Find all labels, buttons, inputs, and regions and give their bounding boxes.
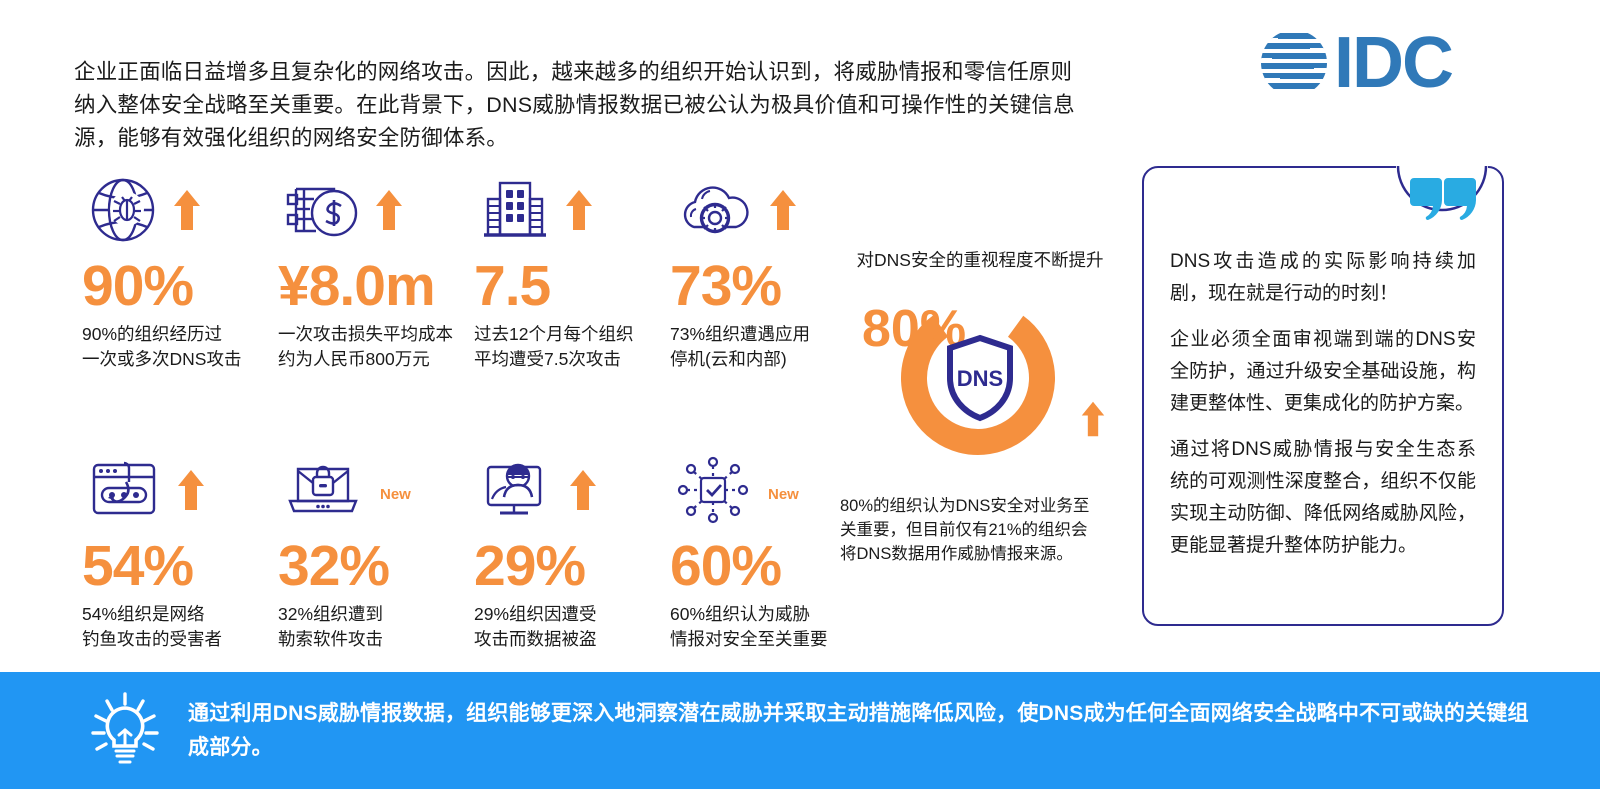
stat-caption: 73%组织遭遇应用 停机(云和内部)	[658, 322, 854, 372]
intro-paragraph: 企业正面临日益增多且复杂化的网络攻击。因此，越来越多的组织开始认识到，将威胁情报…	[74, 56, 1084, 155]
quote-mark-icon	[1410, 176, 1480, 226]
infographic-page: IDC 企业正面临日益增多且复杂化的网络攻击。因此，越来越多的组织开始认识到，将…	[0, 0, 1600, 789]
stat-card-54: 54% 54%组织是网络 钓鱼攻击的受害者	[70, 448, 266, 652]
quote-card: DNS攻击造成的实际影响持续加剧，现在就是行动的时刻！ 企业必须全面审视端到端的…	[1142, 166, 1504, 626]
threat-intel-network-icon	[674, 455, 752, 525]
arrow-up-icon	[568, 468, 598, 512]
arrow-up-icon	[1080, 400, 1106, 438]
stat-value: 29%	[462, 536, 658, 596]
phishing-browser-icon	[86, 455, 164, 525]
stat-caption: 一次攻击损失平均成本 约为人民币800万元	[266, 322, 462, 372]
stat-value: 7.5	[462, 256, 658, 316]
svg-text:DNS: DNS	[957, 366, 1003, 391]
stat-card-32: New 32% 32%组织遭到 勒索软件攻击	[266, 448, 462, 652]
arrow-up-icon	[172, 188, 202, 232]
arrow-up-icon	[176, 468, 206, 512]
stat-caption: 54%组织是网络 钓鱼攻击的受害者	[70, 602, 266, 652]
lightbulb-icon	[90, 690, 160, 772]
stat-caption: 32%组织遭到 勒索软件攻击	[266, 602, 462, 652]
dns-shield-icon: DNS	[944, 334, 1016, 422]
stats-row-2: 54% 54%组织是网络 钓鱼攻击的受害者	[70, 448, 860, 652]
stat-value: 32%	[266, 536, 462, 596]
stat-icon-row	[658, 168, 854, 252]
donut-chart: 80% DNS	[840, 280, 1120, 480]
stats-grid: 90% 90%的组织经历过 一次或多次DNS攻击	[70, 168, 860, 652]
arrow-up-icon	[374, 188, 404, 232]
stat-card-73: 73% 73%组织遭遇应用 停机(云和内部)	[658, 168, 854, 372]
stat-card-29: 29% 29%组织因遭受 攻击而数据被盗	[462, 448, 658, 652]
quote-paragraph-2: 企业必须全面审视端到端的DNS安全防护，通过升级安全基础设施，构建更整体性、更集…	[1170, 324, 1476, 420]
arrow-up-icon	[564, 188, 594, 232]
stat-caption: 过去12个月每个组织 平均遭受7.5次攻击	[462, 322, 658, 372]
globe-bug-icon	[86, 173, 160, 247]
stat-card-60: New 60% 60%组织认为威胁 情报对安全至关重要	[658, 448, 854, 652]
idc-wordmark: IDC	[1334, 27, 1452, 99]
stat-caption: 29%组织因遭受 攻击而数据被盗	[462, 602, 658, 652]
hacker-monitor-icon	[478, 455, 556, 525]
cloud-gear-icon	[674, 175, 756, 245]
stat-icon-row	[70, 168, 266, 252]
stat-card-cost: ¥8.0m 一次攻击损失平均成本 约为人民币800万元	[266, 168, 462, 372]
stat-icon-row: New	[658, 448, 854, 532]
stat-caption: 90%的组织经历过 一次或多次DNS攻击	[70, 322, 266, 372]
stat-caption: 60%组织认为威胁 情报对安全至关重要	[658, 602, 854, 652]
stats-row-1: 90% 90%的组织经历过 一次或多次DNS攻击	[70, 168, 860, 372]
money-dollar-icon	[282, 173, 362, 247]
stat-icon-row	[462, 448, 658, 532]
quote-paragraph-1: DNS攻击造成的实际影响持续加剧，现在就是行动的时刻！	[1170, 246, 1476, 310]
laptop-ransomware-icon	[282, 455, 364, 525]
stat-icon-row	[266, 168, 462, 252]
new-badge: New	[380, 486, 411, 503]
stat-value: 60%	[658, 536, 854, 596]
stat-icon-row: New	[266, 448, 462, 532]
stat-icon-row	[462, 168, 658, 252]
banner-text: 通过利用DNS威胁情报数据，组织能够更深入地洞察潜在威胁并采取主动措施降低风险，…	[188, 697, 1548, 765]
stat-icon-row	[70, 448, 266, 532]
donut-chart-title: 对DNS安全的重视程度不断提升	[840, 248, 1120, 272]
stat-value: 54%	[70, 536, 266, 596]
new-badge: New	[768, 486, 799, 503]
building-icon	[478, 173, 552, 247]
stat-value: 90%	[70, 256, 266, 316]
bottom-banner: 通过利用DNS威胁情报数据，组织能够更深入地洞察潜在威胁并采取主动措施降低风险，…	[0, 672, 1600, 789]
donut-chart-block: 对DNS安全的重视程度不断提升 80% DNS 80%的组织认为DNS安全对业务…	[840, 248, 1120, 566]
stat-card-75: 7.5 过去12个月每个组织 平均遭受7.5次攻击	[462, 168, 658, 372]
arrow-up-icon	[768, 188, 798, 232]
idc-globe-icon	[1258, 27, 1330, 99]
stat-value: ¥8.0m	[266, 256, 462, 316]
stat-value: 73%	[658, 256, 854, 316]
donut-caption: 80%的组织认为DNS安全对业务至关重要，但目前仅有21%的组织会将DNS数据用…	[840, 494, 1090, 566]
idc-logo: IDC	[1258, 22, 1518, 104]
quote-paragraph-3: 通过将DNS威胁情报与安全生态系统的可观测性深度整合，组织不仅能实现主动防御、降…	[1170, 434, 1476, 562]
quote-body: DNS攻击造成的实际影响持续加剧，现在就是行动的时刻！ 企业必须全面审视端到端的…	[1144, 168, 1502, 580]
stat-card-90: 90% 90%的组织经历过 一次或多次DNS攻击	[70, 168, 266, 372]
